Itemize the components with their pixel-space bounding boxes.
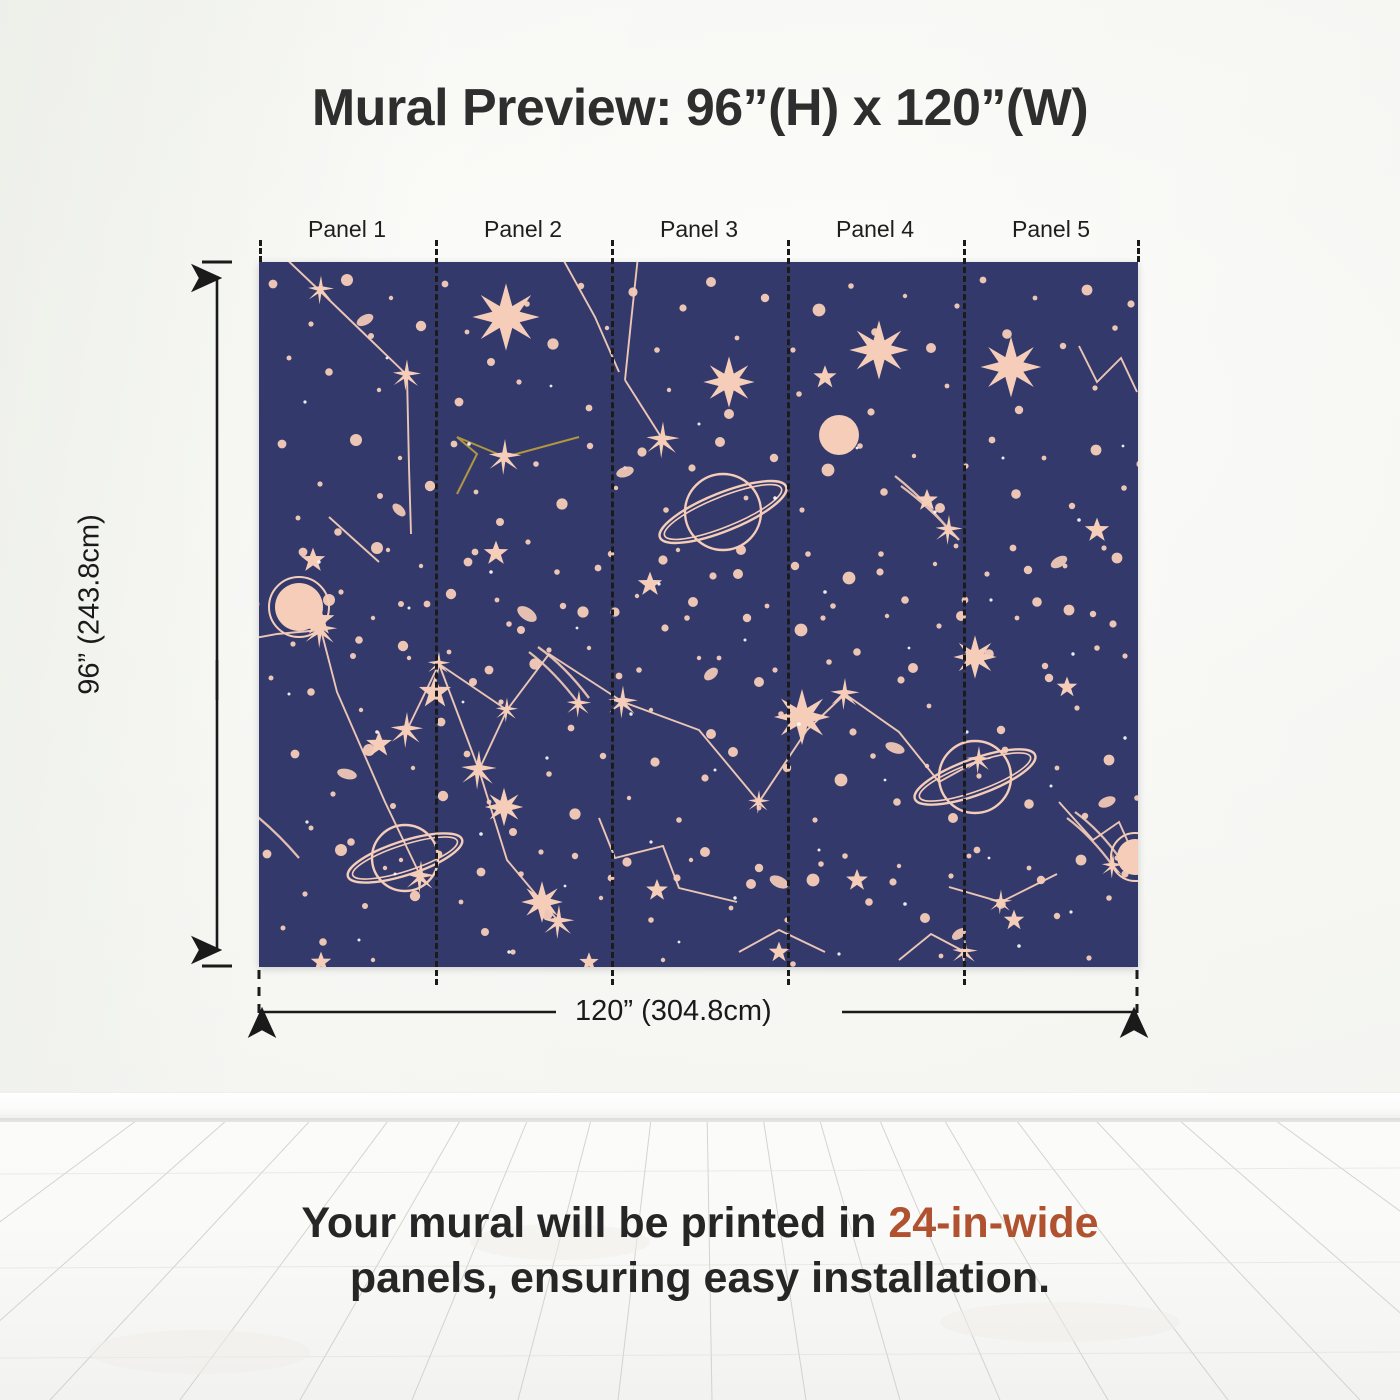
panel-label-3: Panel 3 bbox=[611, 216, 787, 243]
caption-line-1-text: Your mural will be printed in bbox=[301, 1199, 888, 1247]
panel-divider-2 bbox=[611, 240, 614, 985]
page-title: Mural Preview: 96”(H) x 120”(W) bbox=[0, 78, 1400, 138]
caption-line-2: panels, ensuring easy installation. bbox=[0, 1251, 1400, 1306]
panel-divider-4 bbox=[963, 240, 966, 985]
panel-divider-1 bbox=[435, 240, 438, 985]
panel-label-5: Panel 5 bbox=[963, 216, 1139, 243]
height-dimension-label: 96” (243.8cm) bbox=[74, 455, 107, 755]
constellation-pattern bbox=[259, 262, 1138, 967]
caption-highlight: 24-in-wide bbox=[888, 1199, 1098, 1247]
panel-label-4: Panel 4 bbox=[787, 216, 963, 243]
panel-label-2: Panel 2 bbox=[435, 216, 611, 243]
width-dimension-label: 120” (304.8cm) bbox=[563, 995, 784, 1028]
panel-edge-left bbox=[259, 240, 262, 262]
panel-label-1: Panel 1 bbox=[259, 216, 435, 243]
footer-caption: Your mural will be printed in 24-in-wide… bbox=[0, 1196, 1400, 1306]
caption-line-1: Your mural will be printed in 24-in-wide bbox=[0, 1196, 1400, 1251]
panel-divider-3 bbox=[787, 240, 790, 985]
mural-preview-image[interactable] bbox=[259, 262, 1138, 967]
panel-edge-right bbox=[1137, 240, 1140, 262]
